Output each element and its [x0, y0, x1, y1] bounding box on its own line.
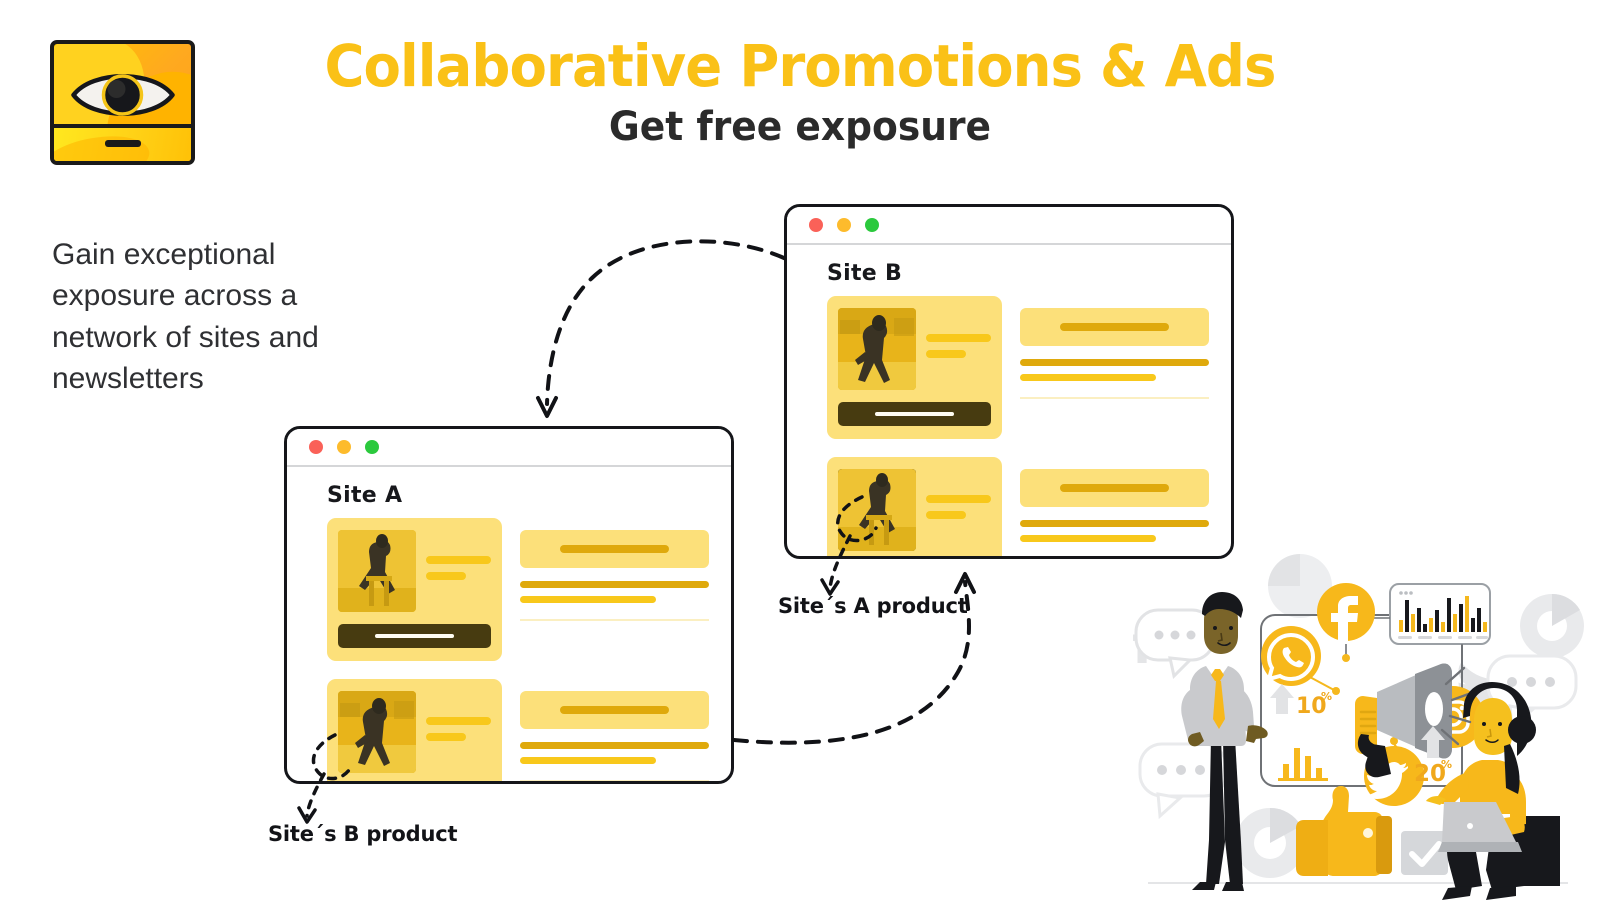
buy-button[interactable] [338, 624, 491, 648]
leader-arrowhead-icon [822, 580, 838, 594]
browser-window-site-a[interactable]: Site A [284, 426, 734, 784]
article-copy [1002, 296, 1209, 399]
product-card-top [338, 530, 491, 612]
copy-line [520, 581, 709, 588]
product-rows [787, 296, 1231, 559]
eye-icon [70, 64, 175, 126]
traffic-lights [809, 218, 879, 232]
product-card[interactable] [827, 457, 1002, 559]
copy-divider [1020, 397, 1209, 399]
intro-paragraph: Gain exceptional exposure across a netwo… [52, 234, 402, 400]
product-row[interactable] [287, 679, 731, 784]
traffic-lights [309, 440, 379, 454]
arrowhead-down-icon [538, 398, 556, 416]
checkmark-box-icon [1401, 831, 1448, 875]
text-line [426, 717, 491, 725]
text-line [926, 334, 991, 342]
product-card[interactable] [827, 296, 1002, 439]
copy-line [1020, 359, 1209, 366]
product-rows [287, 518, 731, 784]
close-icon[interactable] [309, 440, 323, 454]
text-line [926, 511, 966, 519]
svg-text:%: % [1441, 758, 1452, 771]
whatsapp-icon [1261, 626, 1321, 686]
product-text-placeholder [926, 308, 991, 358]
woman-stool-photo-thumb [338, 530, 416, 612]
woman-street-photo-thumb [338, 691, 416, 773]
logo-screen [50, 40, 195, 165]
copy-highlight-block [1020, 308, 1209, 346]
connector-node [1332, 687, 1340, 695]
text-line [426, 733, 466, 741]
copy-highlight-block [1020, 469, 1209, 507]
text-line [426, 556, 491, 564]
copy-line [520, 757, 656, 764]
copy-highlight-block [520, 691, 709, 729]
browser-window-site-b[interactable]: Site B [784, 204, 1234, 559]
connector-b-to-a [547, 241, 784, 404]
product-card-top [338, 691, 491, 773]
stat-badge-10: 10 % [1270, 684, 1332, 719]
slide-canvas: Collaborative Promotions & Ads Get free … [0, 0, 1600, 900]
product-card[interactable] [327, 679, 502, 784]
product-text-placeholder [426, 691, 491, 741]
product-row[interactable] [287, 518, 731, 661]
header-block: Collaborative Promotions & Ads Get free … [0, 36, 1600, 149]
svg-text:%: % [1321, 690, 1332, 703]
site-title-b: Site B [827, 261, 1231, 286]
copy-highlight-block [520, 530, 709, 568]
maximize-icon[interactable] [365, 440, 379, 454]
product-card-top [838, 469, 991, 551]
facebook-icon [1317, 583, 1375, 644]
callout-site-a-product: Site´s A product [778, 594, 968, 618]
product-card-top [838, 308, 991, 390]
social-media-marketing-illustration: f [1118, 548, 1600, 900]
article-copy [502, 518, 709, 621]
bar-chart-card [1390, 584, 1490, 644]
page-subtitle: Get free exposure [48, 105, 1552, 149]
site-title-a: Site A [327, 483, 731, 508]
copy-line [520, 596, 656, 603]
copy-line [520, 742, 709, 749]
text-line [926, 495, 991, 503]
product-text-placeholder [426, 530, 491, 580]
minimize-icon[interactable] [837, 218, 851, 232]
copy-line [1020, 374, 1156, 381]
product-text-placeholder [926, 469, 991, 519]
text-line [426, 572, 466, 580]
woman-stool-photo-thumb [838, 469, 916, 551]
product-row[interactable] [787, 296, 1231, 439]
callout-site-b-product: Site´s B product [268, 822, 457, 846]
page-title: Collaborative Promotions & Ads [48, 36, 1552, 97]
mini-bar-chart [1278, 748, 1328, 781]
woman-street-photo-thumb [838, 308, 916, 390]
maximize-icon[interactable] [865, 218, 879, 232]
article-copy [1002, 457, 1209, 559]
arrowhead-up-icon [956, 574, 974, 592]
leader-arrowhead-icon [299, 808, 315, 822]
product-card[interactable] [327, 518, 502, 661]
product-row[interactable] [787, 457, 1231, 559]
minimize-icon[interactable] [337, 440, 351, 454]
logo-slot [105, 140, 141, 147]
text-line [926, 350, 966, 358]
window-title-bar [287, 429, 731, 467]
window-title-bar [787, 207, 1231, 245]
connector-node [1342, 654, 1350, 662]
close-icon[interactable] [809, 218, 823, 232]
copy-divider [520, 619, 709, 621]
copy-divider [520, 780, 709, 782]
article-copy [502, 679, 709, 782]
eye-monitor-logo-icon [50, 40, 195, 165]
buy-button[interactable] [838, 402, 991, 426]
copy-line [1020, 520, 1209, 527]
logo-base [54, 128, 191, 161]
copy-line [1020, 535, 1156, 542]
